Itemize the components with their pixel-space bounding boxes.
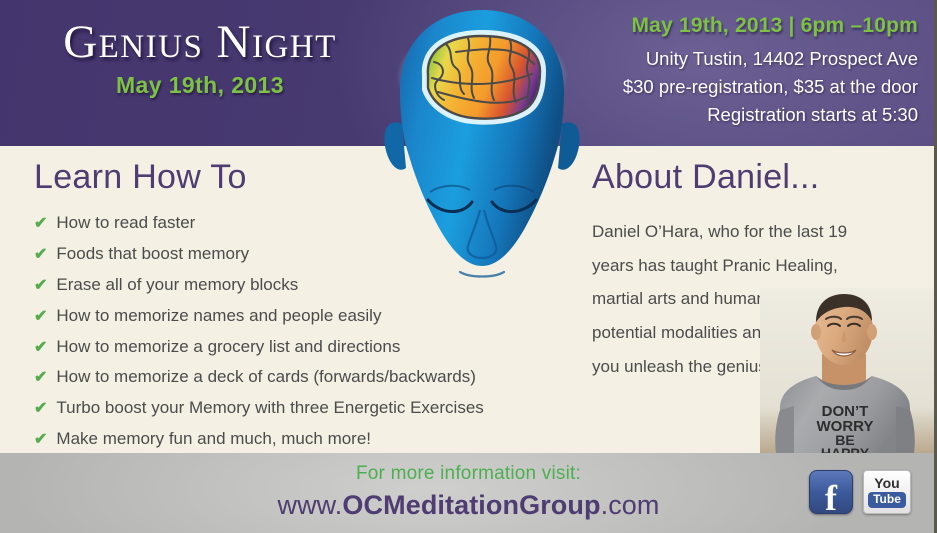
list-item-label: Make memory fun and much, much more! bbox=[56, 429, 371, 449]
facebook-icon[interactable]: f bbox=[809, 470, 853, 514]
youtube-you-label: You bbox=[874, 476, 899, 490]
left-ear bbox=[811, 324, 821, 340]
website-url[interactable]: www.OCMeditationGroup.com bbox=[0, 490, 937, 521]
list-item-label: Turbo boost your Memory with three Energ… bbox=[56, 398, 483, 418]
list-item: ✔ Erase all of your memory blocks bbox=[34, 275, 574, 295]
page-title: Genius Night bbox=[0, 18, 400, 67]
url-suffix: .com bbox=[601, 490, 660, 520]
list-item: ✔ Turbo boost your Memory with three Ene… bbox=[34, 398, 574, 418]
list-item-label: Foods that boost memory bbox=[56, 244, 249, 264]
list-item-label: Erase all of your memory blocks bbox=[56, 275, 298, 295]
list-item-label: How to memorize a grocery list and direc… bbox=[56, 337, 400, 357]
list-item: ✔ Make memory fun and much, much more! bbox=[34, 429, 574, 449]
shirt-text: DON’T WORRY BE HAPPY bbox=[817, 403, 874, 453]
check-icon: ✔ bbox=[34, 339, 47, 357]
learn-heading: Learn How To bbox=[34, 158, 574, 197]
list-item: ✔ How to memorize a grocery list and dir… bbox=[34, 337, 574, 357]
learn-check-list: ✔ How to read faster ✔ Foods that boost … bbox=[34, 213, 574, 450]
about-heading: About Daniel... bbox=[592, 158, 922, 197]
youtube-tube-label: Tube bbox=[868, 492, 906, 508]
check-icon: ✔ bbox=[34, 308, 47, 326]
social-links: f You Tube bbox=[809, 470, 911, 514]
footer-visit-label: For more information visit: bbox=[0, 463, 937, 485]
list-item: ✔ How to memorize names and people easil… bbox=[34, 306, 574, 326]
list-item: ✔ Foods that boost memory bbox=[34, 244, 574, 264]
check-icon: ✔ bbox=[34, 215, 47, 233]
facebook-glyph: f bbox=[810, 480, 852, 516]
check-icon: ✔ bbox=[34, 277, 47, 295]
right-ear bbox=[867, 324, 877, 340]
check-icon: ✔ bbox=[34, 369, 47, 387]
list-item-label: How to memorize a deck of cards (forward… bbox=[56, 367, 475, 387]
title-block: Genius Night May 19th, 2013 bbox=[0, 18, 400, 99]
daniel-photo: DON’T WORRY BE HAPPY bbox=[760, 288, 934, 453]
flyer-canvas: Genius Night May 19th, 2013 May 19th, 20… bbox=[0, 0, 937, 533]
list-item-label: How to memorize names and people easily bbox=[56, 306, 381, 326]
url-prefix: www. bbox=[277, 490, 342, 520]
check-icon: ✔ bbox=[34, 431, 47, 449]
youtube-icon[interactable]: You Tube bbox=[863, 470, 911, 514]
check-icon: ✔ bbox=[34, 246, 47, 264]
list-item: ✔ How to memorize a deck of cards (forwa… bbox=[34, 367, 574, 387]
url-brand: OCMeditationGroup bbox=[342, 490, 600, 520]
svg-text:HAPPY: HAPPY bbox=[821, 445, 870, 453]
list-item-label: How to read faster bbox=[56, 213, 195, 233]
check-icon: ✔ bbox=[34, 400, 47, 418]
list-item: ✔ How to read faster bbox=[34, 213, 574, 233]
learn-how-to-section: Learn How To ✔ How to read faster ✔ Food… bbox=[34, 158, 574, 460]
title-date: May 19th, 2013 bbox=[0, 72, 400, 99]
footer-contact: For more information visit: www.OCMedita… bbox=[0, 463, 937, 521]
